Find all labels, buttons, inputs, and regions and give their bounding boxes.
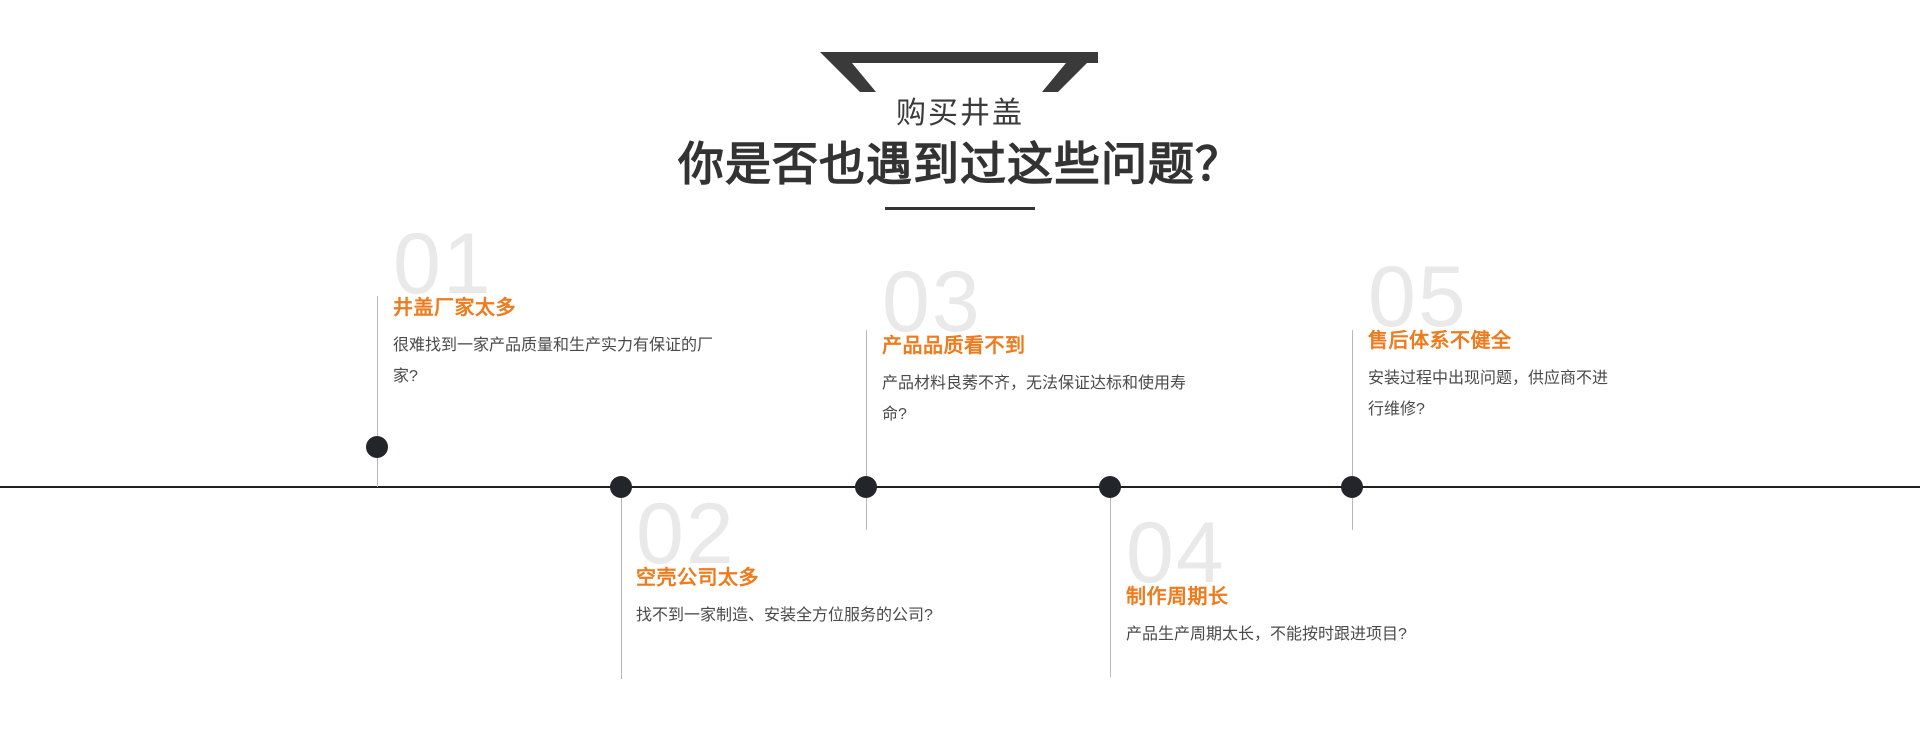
timeline-item-03: 03 产品品质看不到 产品材料良莠不齐，无法保证达标和使用寿命? [882,333,1212,430]
timeline-item-05-title: 售后体系不健全 [1368,328,1698,354]
timeline: 01 井盖厂家太多 很难找到一家产品质量和生产实力有保证的厂家? 02 空壳公司… [0,0,1920,739]
timeline-item-05-description: 安装过程中出现问题，供应商不进行维修? [1368,363,1613,425]
timeline-stem-02 [621,487,622,679]
timeline-item-04-title: 制作周期长 [1126,584,1456,610]
timeline-stem-03 [866,330,867,530]
timeline-dot-01[interactable] [366,436,388,458]
timeline-dot-04[interactable] [1099,476,1121,498]
timeline-item-02-title: 空壳公司太多 [636,565,966,591]
timeline-dot-05[interactable] [1341,476,1363,498]
timeline-stem-05 [1352,330,1353,530]
timeline-axis [0,486,1920,488]
timeline-item-05: 05 售后体系不健全 安装过程中出现问题，供应商不进行维修? [1368,328,1698,425]
timeline-stem-04 [1110,487,1111,677]
timeline-item-01-description: 很难找到一家产品质量和生产实力有保证的厂家? [393,330,713,392]
timeline-item-01: 01 井盖厂家太多 很难找到一家产品质量和生产实力有保证的厂家? [393,295,723,392]
timeline-item-02: 02 空壳公司太多 找不到一家制造、安装全方位服务的公司? [636,565,966,631]
timeline-item-03-title: 产品品质看不到 [882,333,1212,359]
timeline-item-01-title: 井盖厂家太多 [393,295,723,321]
timeline-item-04: 04 制作周期长 产品生产周期太长，不能按时跟进项目? [1126,584,1456,650]
timeline-item-03-description: 产品材料良莠不齐，无法保证达标和使用寿命? [882,368,1202,430]
timeline-dot-03[interactable] [855,476,877,498]
timeline-dot-02[interactable] [610,476,632,498]
timeline-item-04-description: 产品生产周期太长，不能按时跟进项目? [1126,619,1446,650]
page-root: 购买井盖 你是否也遇到过这些问题？ [0,0,1920,739]
timeline-stem-01 [377,296,378,487]
timeline-item-02-description: 找不到一家制造、安装全方位服务的公司? [636,600,956,631]
